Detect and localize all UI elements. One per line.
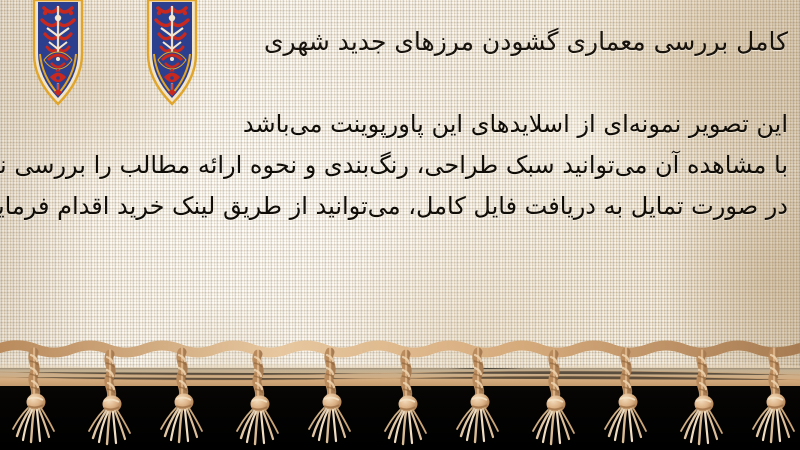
fringe-tassel: [605, 352, 646, 442]
fringe-tassel: [533, 354, 574, 444]
fringe-tassel: [89, 354, 130, 444]
fringe-tassel: [237, 354, 278, 444]
body-line-3: در صورت تمایل به دریافت فایل کامل، می‌تو…: [13, 186, 788, 227]
carpet-knotted-fringe-icon: [0, 340, 800, 450]
presentation-slide: کامل بررسی معماری گشودن مرزهای جدید شهری…: [0, 0, 800, 450]
fringe-tassel: [13, 352, 54, 442]
fringe-tassel: [161, 352, 202, 442]
fringe-tassel: [385, 354, 426, 444]
slide-title: کامل بررسی معماری گشودن مرزهای جدید شهری: [18, 26, 788, 57]
fringe-tassel: [753, 352, 794, 442]
slide-body: این تصویر نمونه‌ای از اسلایدهای این پاور…: [13, 104, 788, 227]
fringe-tassel: [309, 352, 350, 442]
fringe-tassel: [681, 354, 722, 444]
fringe-tassel: [457, 352, 498, 442]
body-line-1: این تصویر نمونه‌ای از اسلایدهای این پاور…: [13, 104, 788, 145]
body-line-2: با مشاهده آن می‌توانید سبک طراحی، رنگ‌بن…: [13, 145, 788, 186]
